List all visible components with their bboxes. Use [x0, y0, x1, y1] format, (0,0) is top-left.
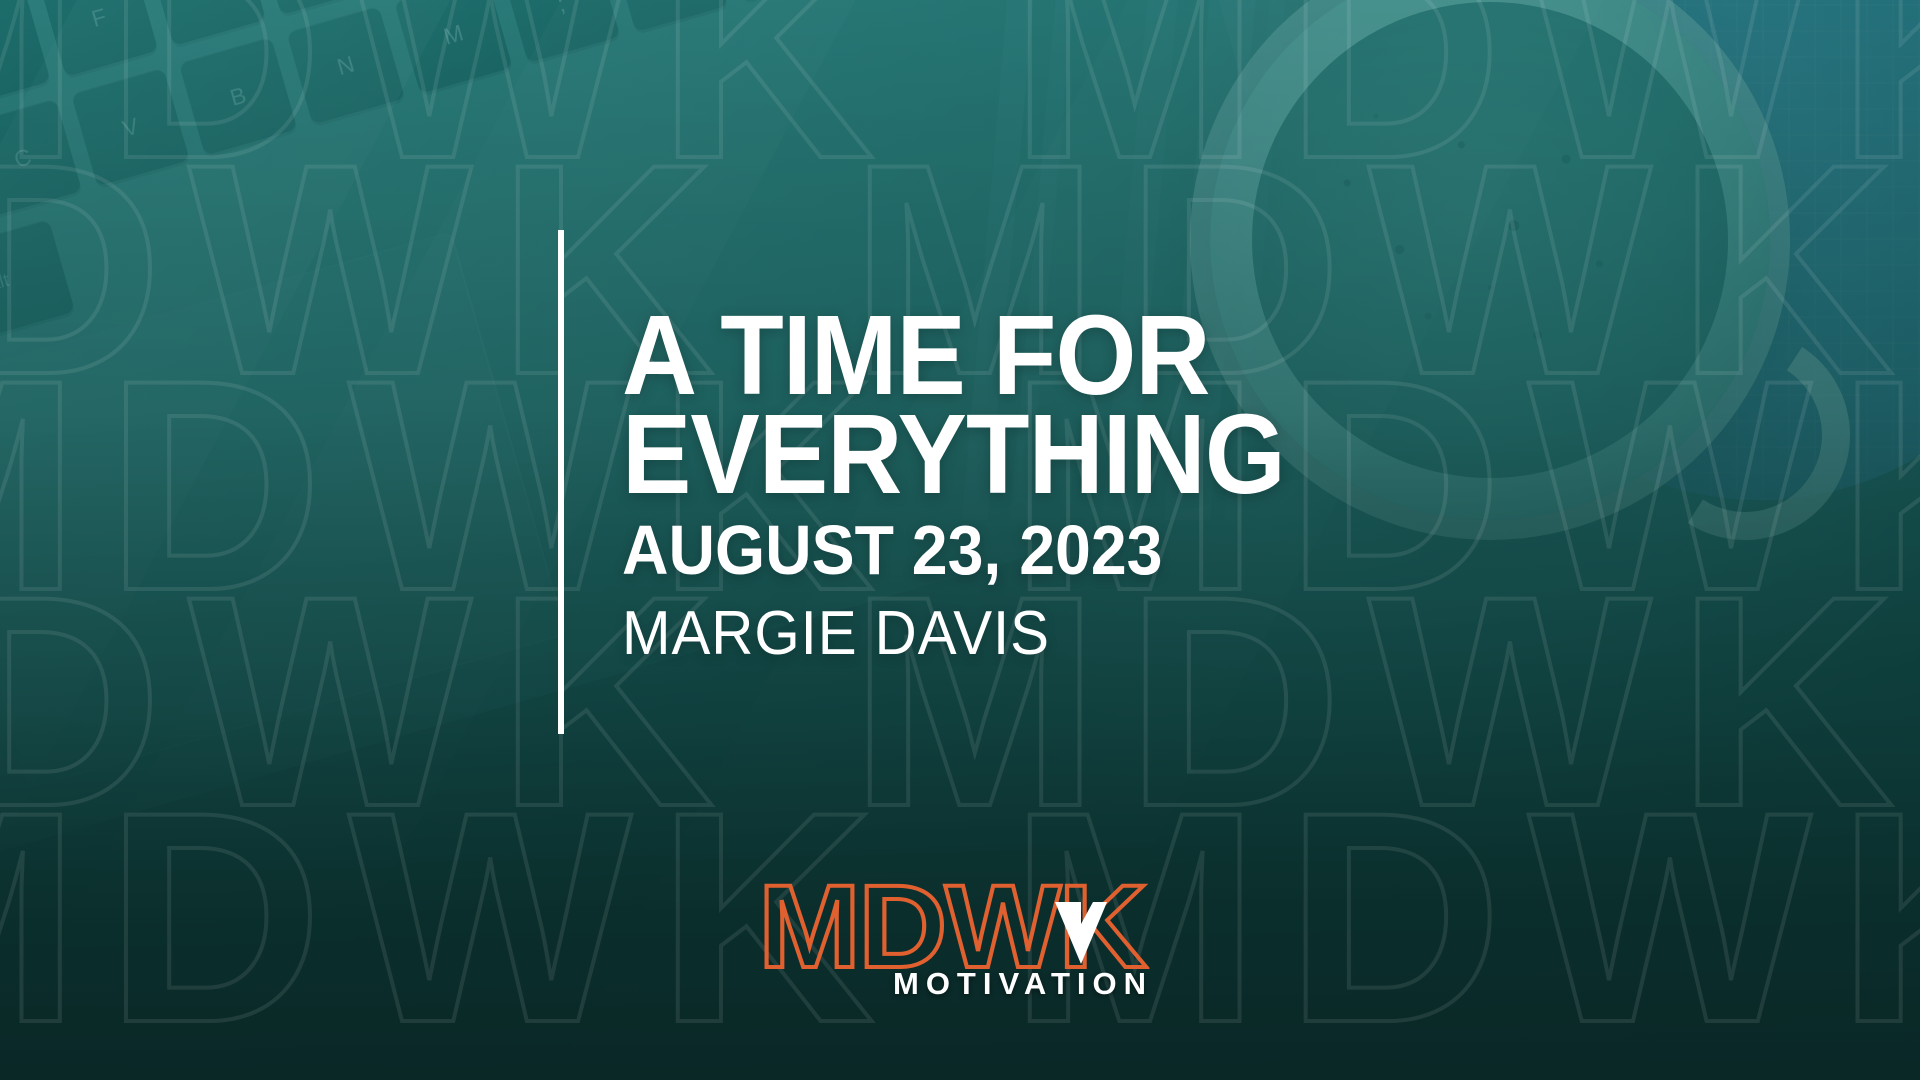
slide-canvas: QWERTYUIOPÅASDFGHJKLÖÄZXCVBNM;:_cmdalt M… [0, 0, 1920, 1080]
event-date: AUGUST 23, 2023 [622, 513, 1285, 589]
title-text-group: A TIME FOR EVERYTHING AUGUST 23, 2023 MA… [564, 292, 1342, 734]
chevron-down-icon [1055, 902, 1107, 964]
logo-tagline: MOTIVATION [893, 966, 1153, 1002]
speaker-name: MARGIE DAVIS [622, 600, 1299, 668]
page-title: A TIME FOR EVERYTHING [622, 306, 1285, 505]
mdwk-logo: MDWK MOTIVATION [750, 868, 1170, 1038]
title-block: A TIME FOR EVERYTHING AUGUST 23, 2023 MA… [558, 292, 1342, 734]
